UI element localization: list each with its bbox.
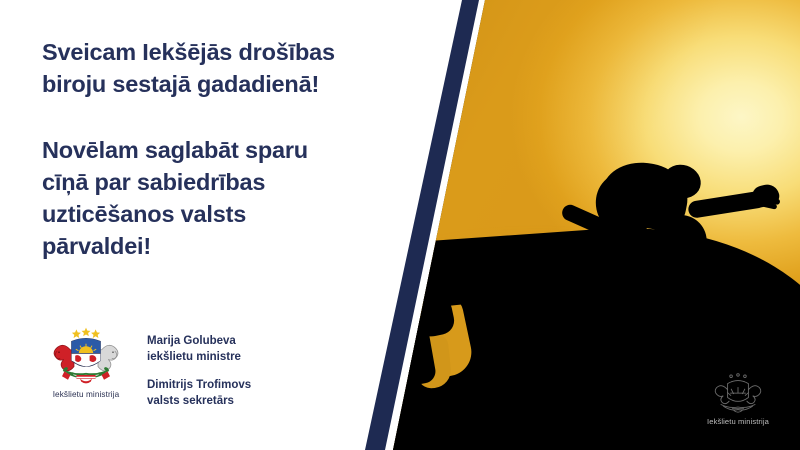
subheadline-line-2: cīņā par sabiedrības xyxy=(42,166,342,198)
subheadline: Novēlam saglabāt sparu cīņā par sabiedrī… xyxy=(42,134,342,262)
ministry-logo-left: Iekšlietu ministrija xyxy=(38,326,134,399)
ministry-logo-right: Iekšlietu ministrija xyxy=(695,372,781,426)
headline-line-1: Sveicam Iekšējās drošības xyxy=(42,36,352,68)
coa-stars xyxy=(72,328,100,338)
subheadline-line-1: Novēlam saglabāt sparu xyxy=(42,134,342,166)
signature-state-secretary-name: Dimitrijs Trofimovs xyxy=(147,377,251,393)
upper-climber-boot xyxy=(665,320,711,347)
subheadline-line-4: pārvaldei! xyxy=(42,230,342,262)
coa-shield xyxy=(72,338,101,366)
signature-state-secretary: Dimitrijs Trofimovs valsts sekretārs xyxy=(147,377,251,409)
signature-block: Marija Golubeva iekšlietu ministre Dimit… xyxy=(147,333,251,409)
coa-griffin xyxy=(98,345,118,371)
signature-minister-title: iekšlietu ministre xyxy=(147,349,251,365)
latvia-coat-of-arms-icon xyxy=(712,372,764,416)
headline: Sveicam Iekšējās drošības biroju sestajā… xyxy=(42,36,352,100)
ministry-logo-left-caption: Iekšlietu ministrija xyxy=(38,390,134,399)
signature-minister-name: Marija Golubeva xyxy=(147,333,251,349)
subheadline-line-3: uzticēšanos valsts xyxy=(42,198,342,230)
signature-minister: Marija Golubeva iekšlietu ministre xyxy=(147,333,251,365)
headline-line-2: biroju sestajā gadadienā! xyxy=(42,68,352,100)
ministry-logo-right-caption: Iekšlietu ministrija xyxy=(695,417,781,426)
signature-state-secretary-title: valsts sekretārs xyxy=(147,393,251,409)
latvia-coat-of-arms-icon xyxy=(50,326,122,388)
anniversary-banner: Iekšlietu ministrija Sveicam Iekšējās dr… xyxy=(0,0,800,450)
coa-lion xyxy=(54,345,74,371)
